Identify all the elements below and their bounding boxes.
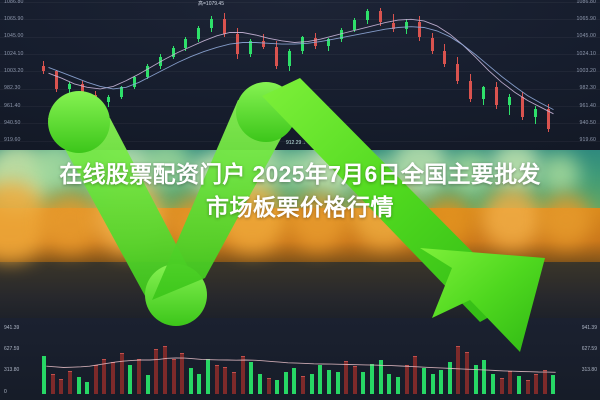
volume-axis-tick-left: 0 (4, 390, 7, 395)
ma-line-MA-fast (49, 19, 554, 114)
bokeh-dark-layer (0, 262, 600, 325)
stock-banner-image: 1086.801065.901045.001024.101003.20982.3… (0, 0, 600, 400)
volume-axis-tick-left: 313.80 (4, 368, 19, 373)
volume-axis-tick-left: 627.59 (4, 347, 19, 352)
volume-ma-line (0, 318, 600, 400)
price-high-annotation: 高=1079.45 (198, 2, 224, 7)
volume-chart-panel: 941.39627.59313.800 941.39627.59313.80 (0, 318, 600, 400)
volume-axis-tick-right: 313.80 (582, 368, 597, 373)
volume-ma-path (46, 358, 555, 372)
price-low-annotation: 912.29→ (286, 141, 306, 146)
banner-title-line-1: 在线股票配资门户 2025年7月6日全国主要批发 (18, 158, 582, 191)
ma-line-MA-slow (49, 27, 554, 110)
volume-axis-tick-left: 941.39 (4, 326, 19, 331)
moving-average-lines (0, 0, 600, 160)
volume-axis-tick-right: 941.39 (582, 326, 597, 331)
banner-title: 在线股票配资门户 2025年7月6日全国主要批发 市场板栗价格行情 (0, 158, 600, 225)
banner-title-line-2: 市场板栗价格行情 (18, 191, 582, 224)
volume-axis-tick-right: 627.59 (582, 347, 597, 352)
price-chart-panel: 1086.801065.901045.001024.101003.20982.3… (0, 0, 600, 160)
